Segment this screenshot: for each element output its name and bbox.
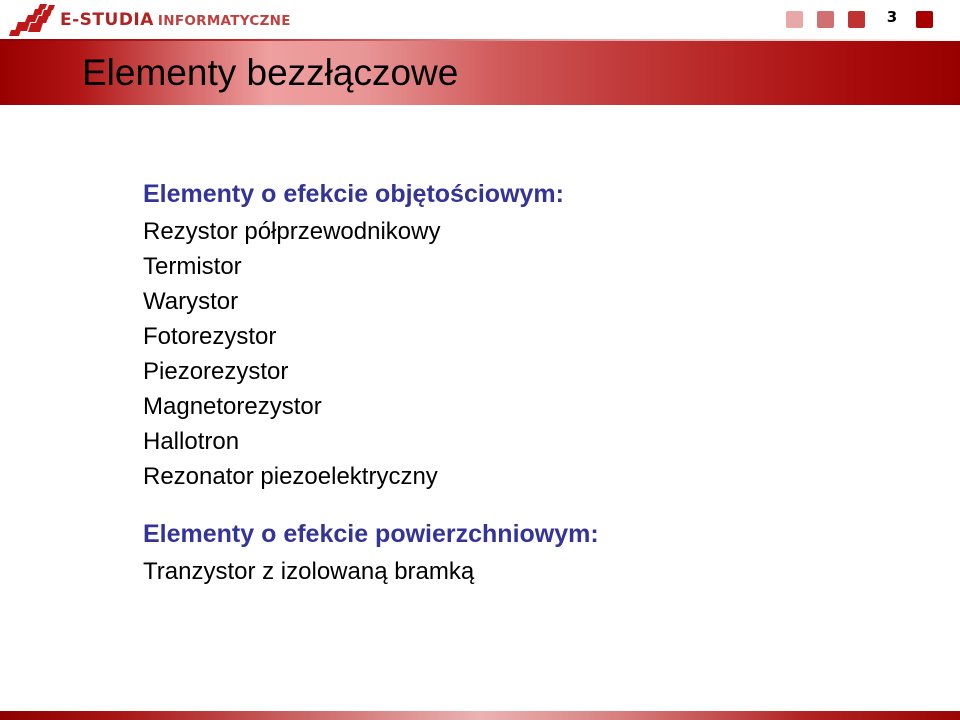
list-item: Magnetorezystor (143, 389, 923, 424)
list-item: Termistor (143, 249, 923, 284)
list-item: Hallotron (143, 424, 923, 459)
list-item: Fotorezystor (143, 319, 923, 354)
content-section-volume: Elementy o efekcie objętościowym: Rezyst… (143, 178, 923, 494)
slide-progress-indicator: 3 (786, 11, 956, 31)
page-title: Elementy bezzłączowe (82, 53, 458, 93)
brand-secondary-text: INFORMATYCZNE (158, 13, 291, 29)
estudia-tiles-logo-icon (8, 3, 60, 37)
section-heading-volume: Elementy o efekcie objętościowym: (143, 178, 923, 210)
page-number: 3 (880, 8, 904, 26)
list-item: Rezystor półprzewodnikowy (143, 214, 923, 249)
content-section-surface: Elementy o efekcie powierzchniowym: Tran… (143, 518, 923, 589)
list-item: Tranzystor z izolowaną bramką (143, 554, 923, 589)
section-heading-surface: Elementy o efekcie powierzchniowym: (143, 518, 923, 550)
progress-square-1 (786, 11, 803, 28)
progress-square-4 (916, 11, 933, 28)
list-item: Piezorezystor (143, 354, 923, 389)
list-item: Warystor (143, 284, 923, 319)
slide-footer-bar (0, 711, 960, 720)
progress-square-2 (817, 11, 834, 28)
brand-primary-text: E-STUDIA (60, 10, 154, 30)
section-spacer (143, 494, 923, 518)
slide-header: E-STUDIAINFORMATYCZNE 3 (0, 0, 960, 40)
progress-square-3 (848, 11, 865, 28)
list-item: Rezonator piezoelektryczny (143, 459, 923, 494)
brand-wordmark: E-STUDIAINFORMATYCZNE (60, 10, 291, 32)
slide-title-banner: Elementy bezzłączowe (0, 41, 960, 105)
slide-content: Elementy o efekcie objętościowym: Rezyst… (143, 178, 923, 589)
